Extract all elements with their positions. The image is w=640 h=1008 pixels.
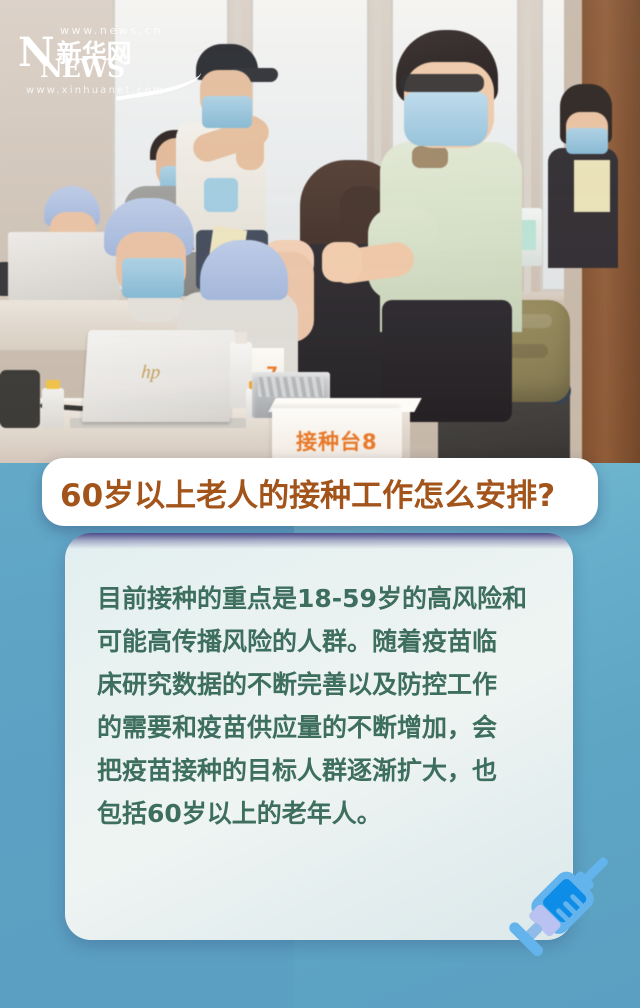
photo-paper-sheet xyxy=(574,160,610,212)
card-top-shadow xyxy=(65,533,573,549)
answer-line: 可能高传播风险的人群。随着疫苗临 xyxy=(97,620,543,663)
header-photo: 7 hp 接种台8 www.news.cn N 新华网 NEWS www.xin… xyxy=(0,0,640,463)
photo-face-mask xyxy=(202,96,252,128)
photo-eyeglasses xyxy=(400,74,484,92)
photo-face-mask xyxy=(404,92,488,146)
syringe-icon xyxy=(502,838,628,964)
photo-face-mask xyxy=(566,128,608,154)
page-title: 60岁以上老人的接种工作怎么安排? xyxy=(60,470,555,515)
photo-station-sign-text: 接种台8 xyxy=(296,426,378,456)
photo-foreground-person-hand xyxy=(322,242,362,282)
xinhua-watermark: www.news.cn N 新华网 NEWS www.xinhuanet.com xyxy=(18,24,218,96)
answer-line: 床研究数据的不断完善以及防控工作 xyxy=(97,663,543,706)
photo-sanitizer-bottle xyxy=(42,388,64,428)
photo-desk-equipment xyxy=(0,370,40,428)
question-title-banner: 60岁以上老人的接种工作怎么安排? xyxy=(42,458,598,526)
photo-shirt-graphic xyxy=(204,178,238,212)
photo-collar xyxy=(412,146,448,168)
answer-line: 包括60岁以上的老年人。 xyxy=(97,792,543,835)
photo-laptop: hp xyxy=(82,330,236,422)
answer-line: 的需要和疫苗供应量的不断增加，会 xyxy=(97,706,543,749)
laptop-brand-logo: hp xyxy=(140,362,172,384)
answer-text-block: 目前接种的重点是18-59岁的高风险和 可能高传播风险的人群。随着疫苗临 床研究… xyxy=(97,577,543,835)
answer-line: 目前接种的重点是18-59岁的高风险和 xyxy=(97,577,543,620)
answer-card: 目前接种的重点是18-59岁的高风险和 可能高传播风险的人群。随着疫苗临 床研究… xyxy=(65,533,573,940)
photo-face-mask xyxy=(122,258,184,298)
answer-line: 把疫苗接种的目标人群逐渐扩大，也 xyxy=(97,749,543,792)
